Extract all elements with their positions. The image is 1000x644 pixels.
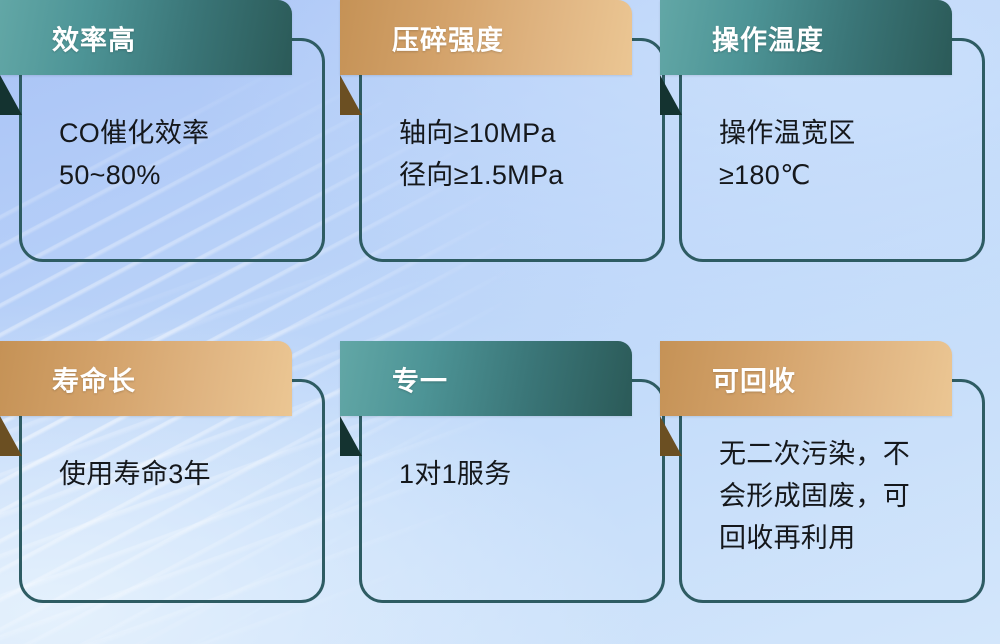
card-body-text: 轴向≥10MPa 径向≥1.5MPa bbox=[399, 112, 649, 196]
card-body-text: 操作温宽区 ≥180℃ bbox=[719, 112, 969, 196]
ribbon-fold-triangle bbox=[340, 416, 362, 456]
feature-card-efficiency[interactable]: CO催化效率 50~80% 效率高 bbox=[19, 0, 325, 262]
card-title: 可回收 bbox=[712, 359, 796, 398]
feature-card-recyclable[interactable]: 无二次污染，不 会形成固废，可 回收再利用 可回收 bbox=[679, 341, 985, 603]
card-title: 效率高 bbox=[52, 18, 136, 57]
card-title: 压碎强度 bbox=[392, 18, 504, 57]
card-ribbon-banner: 效率高 bbox=[0, 0, 292, 75]
feature-card-dedicated-service[interactable]: 1对1服务 专一 bbox=[359, 341, 665, 603]
card-body-text: CO催化效率 50~80% bbox=[59, 112, 309, 196]
card-ribbon-banner: 操作温度 bbox=[660, 0, 952, 75]
feature-card-crush-strength[interactable]: 轴向≥10MPa 径向≥1.5MPa 压碎强度 bbox=[359, 0, 665, 262]
feature-card-long-lifetime[interactable]: 使用寿命3年 寿命长 bbox=[19, 341, 325, 603]
ribbon-fold-triangle bbox=[0, 416, 22, 456]
ribbon-fold-triangle bbox=[660, 416, 682, 456]
feature-card-operating-temperature[interactable]: 操作温宽区 ≥180℃ 操作温度 bbox=[679, 0, 985, 262]
card-ribbon-banner: 压碎强度 bbox=[340, 0, 632, 75]
card-body-text: 无二次污染，不 会形成固废，可 回收再利用 bbox=[719, 433, 969, 559]
card-ribbon-banner: 寿命长 bbox=[0, 341, 292, 416]
card-body-text: 使用寿命3年 bbox=[59, 453, 309, 495]
card-title: 寿命长 bbox=[52, 359, 136, 398]
ribbon-fold-triangle bbox=[660, 75, 682, 115]
card-ribbon-banner: 可回收 bbox=[660, 341, 952, 416]
ribbon-fold-triangle bbox=[0, 75, 22, 115]
card-body-text: 1对1服务 bbox=[399, 453, 649, 495]
card-ribbon-banner: 专一 bbox=[340, 341, 632, 416]
card-title: 操作温度 bbox=[712, 18, 824, 57]
card-title: 专一 bbox=[392, 359, 448, 398]
ribbon-fold-triangle bbox=[340, 75, 362, 115]
feature-card-board: CO催化效率 50~80% 效率高 轴向≥10MPa 径向≥1.5MPa 压碎强… bbox=[0, 0, 1000, 644]
